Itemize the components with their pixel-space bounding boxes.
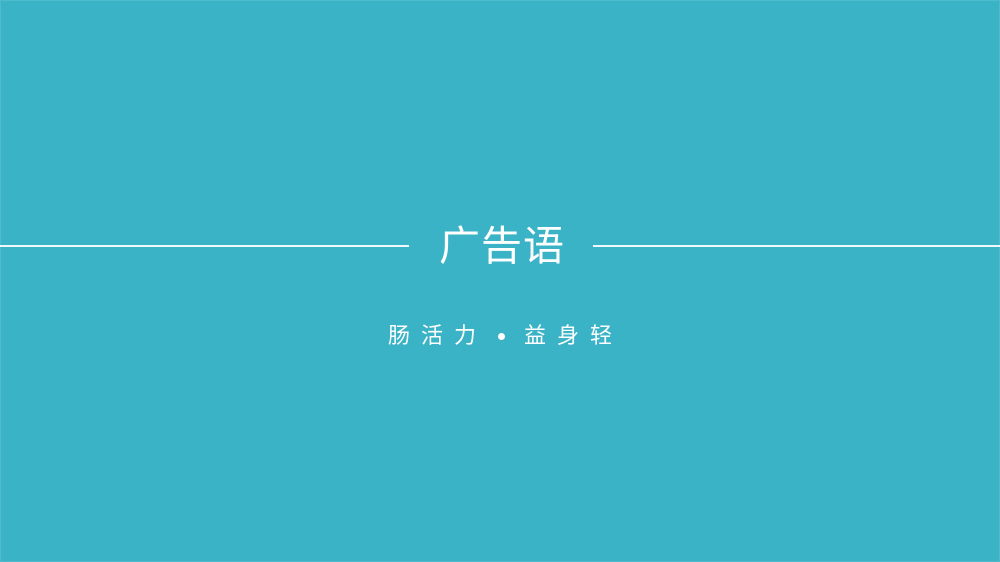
bullet-separator-icon <box>498 333 505 340</box>
slide-canvas: 广告语 肠活力 益身轻 <box>0 0 1000 562</box>
title-rule-right <box>593 245 1000 247</box>
page-title: 广告语 <box>439 226 565 267</box>
title-band: 广告语 <box>0 207 1000 285</box>
tagline-left-text: 肠活力 <box>388 325 487 347</box>
tagline-right-text: 益身轻 <box>524 325 623 347</box>
title-rule-left <box>0 245 409 247</box>
tagline: 肠活力 益身轻 <box>0 321 1000 351</box>
